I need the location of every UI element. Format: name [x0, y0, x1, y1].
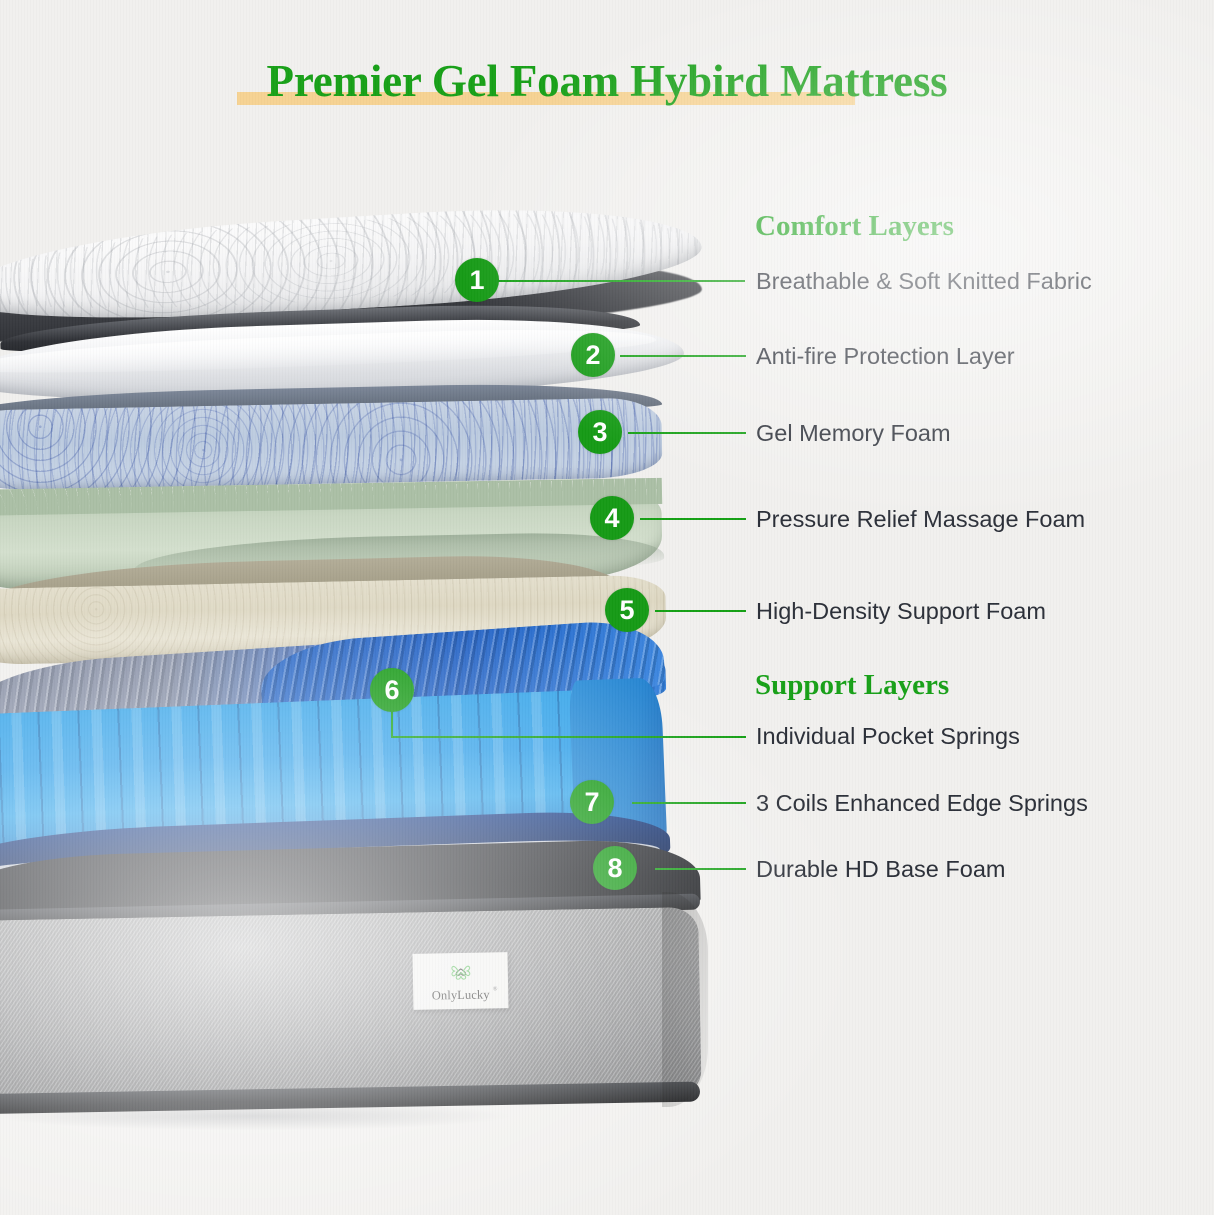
callout-label-6: Individual Pocket Springs: [756, 723, 1020, 750]
support-layers-heading: Support Layers: [755, 669, 949, 702]
leader-line-1: [497, 280, 745, 282]
callout-badge-1[interactable]: 1: [455, 258, 499, 302]
leader-line-8: [655, 868, 746, 870]
gel-foam-body: [0, 397, 663, 491]
callout-badge-3[interactable]: 3: [578, 410, 622, 454]
callout-badge-6[interactable]: 6: [370, 668, 414, 712]
leader-line-6: [391, 736, 746, 738]
callout-badge-4[interactable]: 4: [590, 496, 634, 540]
page-title: Premier Gel Foam Hybird Mattress: [0, 53, 1214, 109]
callout-badge-8[interactable]: 8: [593, 846, 637, 890]
base-rounded-corner: [662, 892, 708, 1107]
brand-name-text: OnlyLucky: [432, 987, 490, 1002]
callout-label-3: Gel Memory Foam: [756, 420, 951, 447]
brand-label: OnlyLucky®: [413, 952, 509, 1010]
leader-line-3: [628, 432, 746, 434]
page-title-text: Premier Gel Foam Hybird Mattress: [263, 53, 952, 109]
callout-label-8: Durable HD Base Foam: [756, 856, 1005, 883]
clover-icon: [447, 959, 473, 986]
registered-mark: ®: [493, 986, 498, 992]
brand-name: OnlyLucky®: [432, 987, 490, 1003]
callout-label-1: Breathable & Soft Knitted Fabric: [756, 268, 1092, 295]
base-cover-fabric: [0, 907, 702, 1111]
leader-line-2: [620, 355, 746, 357]
leader-line-4: [640, 518, 746, 520]
callout-label-4: Pressure Relief Massage Foam: [756, 506, 1085, 533]
leader-line-5: [655, 610, 746, 612]
leader-line-6-vertical: [391, 708, 393, 737]
callout-label-2: Anti-fire Protection Layer: [756, 343, 1015, 370]
base-drop-shadow: [0, 1096, 690, 1136]
callout-label-7: 3 Coils Enhanced Edge Springs: [756, 790, 1088, 817]
layer-base-foam-and-cover: [0, 848, 720, 1168]
comfort-layers-heading: Comfort Layers: [755, 210, 954, 243]
leader-line-7: [632, 802, 746, 804]
callout-badge-7[interactable]: 7: [570, 780, 614, 824]
callout-badge-2[interactable]: 2: [571, 333, 615, 377]
callout-badge-5[interactable]: 5: [605, 588, 649, 632]
layer-pocket-springs: [0, 645, 680, 860]
callout-label-5: High-Density Support Foam: [756, 598, 1046, 625]
layer-gel-memory-foam: [0, 388, 672, 492]
